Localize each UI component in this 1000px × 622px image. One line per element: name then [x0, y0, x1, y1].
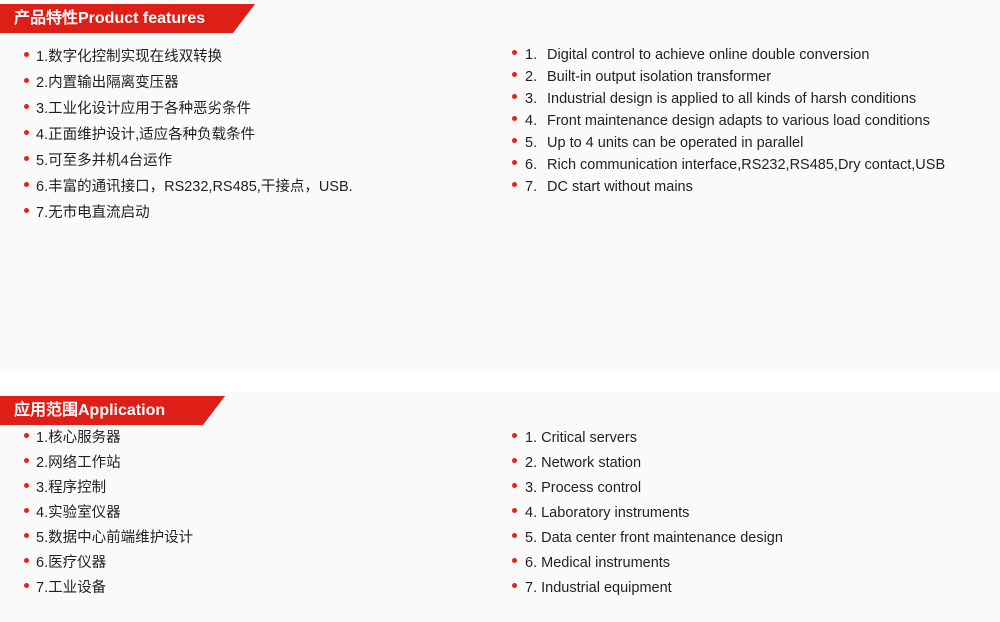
list-item-number: 2.	[525, 66, 547, 88]
bullet-dot-icon	[24, 533, 29, 538]
list-item-label: Digital control to achieve online double…	[547, 44, 869, 66]
list-item-label: 1.数字化控制实现在线双转换	[36, 44, 222, 70]
list-item: 7. Industrial equipment	[512, 576, 982, 601]
list-item: 5.数据中心前端维护设计	[24, 526, 484, 551]
list-item-label: 4. Laboratory instruments	[525, 501, 689, 526]
list-item-label: 6. Medical instruments	[525, 551, 670, 576]
list-item: 3. Process control	[512, 476, 982, 501]
bullet-dot-icon	[24, 130, 29, 135]
bullet-dot-icon	[24, 433, 29, 438]
bullet-dot-icon	[512, 558, 517, 563]
list-item: 1.数字化控制实现在线双转换	[24, 44, 484, 70]
list-item-label: 4.实验室仪器	[36, 501, 121, 526]
list-item: 6.医疗仪器	[24, 551, 484, 576]
list-item-label: 1. Critical servers	[525, 426, 637, 451]
list-item: 5.可至多并机4台运作	[24, 148, 484, 174]
feature-list-english: 1. Digital control to achieve online dou…	[512, 44, 982, 198]
section-banner-application: 应用范围Application	[0, 396, 225, 425]
list-item-label: 2.网络工作站	[36, 451, 121, 476]
bullet-dot-icon	[512, 116, 517, 121]
application-list-chinese: 1.核心服务器 2.网络工作站 3.程序控制 4.实验室仪器 5.数据中心前端维…	[24, 426, 484, 601]
list-item: 1. Digital control to achieve online dou…	[512, 44, 982, 66]
bullet-dot-icon	[512, 138, 517, 143]
list-item: 4. Front maintenance design adapts to va…	[512, 110, 982, 132]
list-item-label: 7.工业设备	[36, 576, 106, 601]
list-item: 6.丰富的通讯接口，RS232,RS485,干接点，USB.	[24, 174, 484, 200]
bullet-dot-icon	[512, 533, 517, 538]
list-item: 1. Critical servers	[512, 426, 982, 451]
bullet-dot-icon	[512, 483, 517, 488]
list-item: 4.实验室仪器	[24, 501, 484, 526]
bullet-dot-icon	[24, 104, 29, 109]
list-item-label: 1.核心服务器	[36, 426, 121, 451]
list-item-label: 4.正面维护设计,适应各种负载条件	[36, 122, 255, 148]
bullet-dot-icon	[512, 72, 517, 77]
list-item-label: 6.医疗仪器	[36, 551, 106, 576]
list-item: 4.正面维护设计,适应各种负载条件	[24, 122, 484, 148]
banner-title-application: 应用范围Application	[14, 403, 165, 419]
list-item: 7. DC start without mains	[512, 176, 982, 198]
bullet-dot-icon	[512, 508, 517, 513]
list-item-label: 5.可至多并机4台运作	[36, 148, 172, 174]
list-item-label: 7.无市电直流启动	[36, 200, 150, 226]
section-banner-product-features: 产品特性Product features	[0, 4, 255, 33]
bullet-dot-icon	[512, 94, 517, 99]
list-item: 2. Network station	[512, 451, 982, 476]
list-item-label: 3.程序控制	[36, 476, 106, 501]
list-item: 5. Data center front maintenance design	[512, 526, 982, 551]
list-item-label: 2.内置输出隔离变压器	[36, 70, 179, 96]
list-item-label: 7. Industrial equipment	[525, 576, 672, 601]
list-item: 3.工业化设计应用于各种恶劣条件	[24, 96, 484, 122]
list-item-number: 5.	[525, 132, 547, 154]
list-item-number: 4.	[525, 110, 547, 132]
list-item: 1.核心服务器	[24, 426, 484, 451]
list-item-number: 3.	[525, 88, 547, 110]
bullet-dot-icon	[24, 583, 29, 588]
list-item-label: Front maintenance design adapts to vario…	[547, 110, 930, 132]
list-item-label: 5. Data center front maintenance design	[525, 526, 783, 551]
bullet-dot-icon	[512, 160, 517, 165]
list-item-number: 6.	[525, 154, 547, 176]
list-item-label: DC start without mains	[547, 176, 693, 198]
list-item-label: Built-in output isolation transformer	[547, 66, 771, 88]
list-item: 2. Built-in output isolation transformer	[512, 66, 982, 88]
bullet-dot-icon	[24, 558, 29, 563]
application-list-english: 1. Critical servers 2. Network station 3…	[512, 426, 982, 601]
list-item: 3.程序控制	[24, 476, 484, 501]
bullet-dot-icon	[24, 52, 29, 57]
bullet-dot-icon	[512, 182, 517, 187]
list-item: 7.工业设备	[24, 576, 484, 601]
bullet-dot-icon	[24, 208, 29, 213]
list-item: 6. Medical instruments	[512, 551, 982, 576]
list-item: 2.内置输出隔离变压器	[24, 70, 484, 96]
list-item-number: 7.	[525, 176, 547, 198]
bullet-dot-icon	[24, 483, 29, 488]
bullet-dot-icon	[512, 583, 517, 588]
list-item: 6. Rich communication interface,RS232,RS…	[512, 154, 982, 176]
list-item: 4. Laboratory instruments	[512, 501, 982, 526]
bullet-dot-icon	[24, 78, 29, 83]
list-item-label: 3. Process control	[525, 476, 641, 501]
list-item-label: 3.工业化设计应用于各种恶劣条件	[36, 96, 251, 122]
list-item-label: Rich communication interface,RS232,RS485…	[547, 154, 945, 176]
bullet-dot-icon	[512, 433, 517, 438]
bullet-dot-icon	[512, 50, 517, 55]
list-item-number: 1.	[525, 44, 547, 66]
list-item-label: Up to 4 units can be operated in paralle…	[547, 132, 803, 154]
bullet-dot-icon	[24, 508, 29, 513]
list-item: 5. Up to 4 units can be operated in para…	[512, 132, 982, 154]
list-item-label: 5.数据中心前端维护设计	[36, 526, 193, 551]
bullet-dot-icon	[512, 458, 517, 463]
product-brochure-page: 产品特性Product features 1.数字化控制实现在线双转换 2.内置…	[0, 0, 1000, 622]
list-item: 7.无市电直流启动	[24, 200, 484, 226]
list-item-label: 6.丰富的通讯接口，RS232,RS485,干接点，USB.	[36, 174, 353, 200]
list-item: 2.网络工作站	[24, 451, 484, 476]
list-item: 3. Industrial design is applied to all k…	[512, 88, 982, 110]
feature-list-chinese: 1.数字化控制实现在线双转换 2.内置输出隔离变压器 3.工业化设计应用于各种恶…	[24, 44, 484, 226]
banner-title-product-features: 产品特性Product features	[14, 11, 205, 27]
list-item-label: Industrial design is applied to all kind…	[547, 88, 916, 110]
list-item-label: 2. Network station	[525, 451, 641, 476]
bullet-dot-icon	[24, 156, 29, 161]
bullet-dot-icon	[24, 458, 29, 463]
bullet-dot-icon	[24, 182, 29, 187]
